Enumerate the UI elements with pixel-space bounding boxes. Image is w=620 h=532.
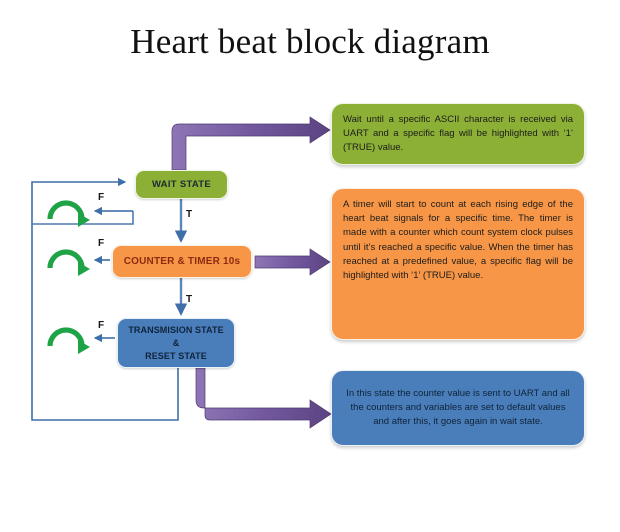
description-box-wait-state: Wait until a specific ASCII character is… xyxy=(331,103,585,165)
purple-arrow-counter xyxy=(255,249,330,275)
branch-label-false-transmission: F xyxy=(98,320,104,331)
feedback-loop-path xyxy=(32,182,178,420)
flow-box-counter-timer-label: COUNTER & TIMER 10s xyxy=(124,256,241,267)
branch-label-true-counter: T xyxy=(186,294,192,305)
description-box-transmission: In this state the counter value is sent … xyxy=(331,370,585,446)
branch-label-false-counter: F xyxy=(98,238,104,249)
description-text-transmission: In this state the counter value is sent … xyxy=(343,387,573,430)
purple-arrow-transmission xyxy=(196,368,331,428)
diagram-canvas: Heart beat block diagram xyxy=(0,0,620,532)
self-loop-arc-transmission xyxy=(50,330,82,346)
description-text-timer: A timer will start to count at each risi… xyxy=(343,199,573,281)
flow-box-counter-timer[interactable]: COUNTER & TIMER 10s xyxy=(112,245,252,278)
flow-box-transmission-reset-state[interactable]: TRANSMISION STATE & RESET STATE xyxy=(117,318,235,368)
flow-box-wait-state[interactable]: WAIT STATE xyxy=(135,170,228,199)
description-text-wait-state: Wait until a specific ASCII character is… xyxy=(343,114,573,153)
description-box-timer: A timer will start to count at each risi… xyxy=(331,188,585,340)
self-loop-arc-counter xyxy=(50,252,82,268)
flow-box-transmission-line1: TRANSMISION STATE xyxy=(128,324,223,337)
self-loop-arc-wait xyxy=(50,203,82,219)
flow-box-transmission-line3: RESET STATE xyxy=(145,350,207,363)
self-loop-arc-heads xyxy=(78,213,90,354)
branch-label-false-wait: F xyxy=(98,192,104,203)
purple-arrow-wait xyxy=(172,117,330,170)
flow-box-wait-state-label: WAIT STATE xyxy=(152,179,211,190)
flow-box-transmission-line2: & xyxy=(173,337,180,350)
branch-label-true-wait: T xyxy=(186,209,192,220)
